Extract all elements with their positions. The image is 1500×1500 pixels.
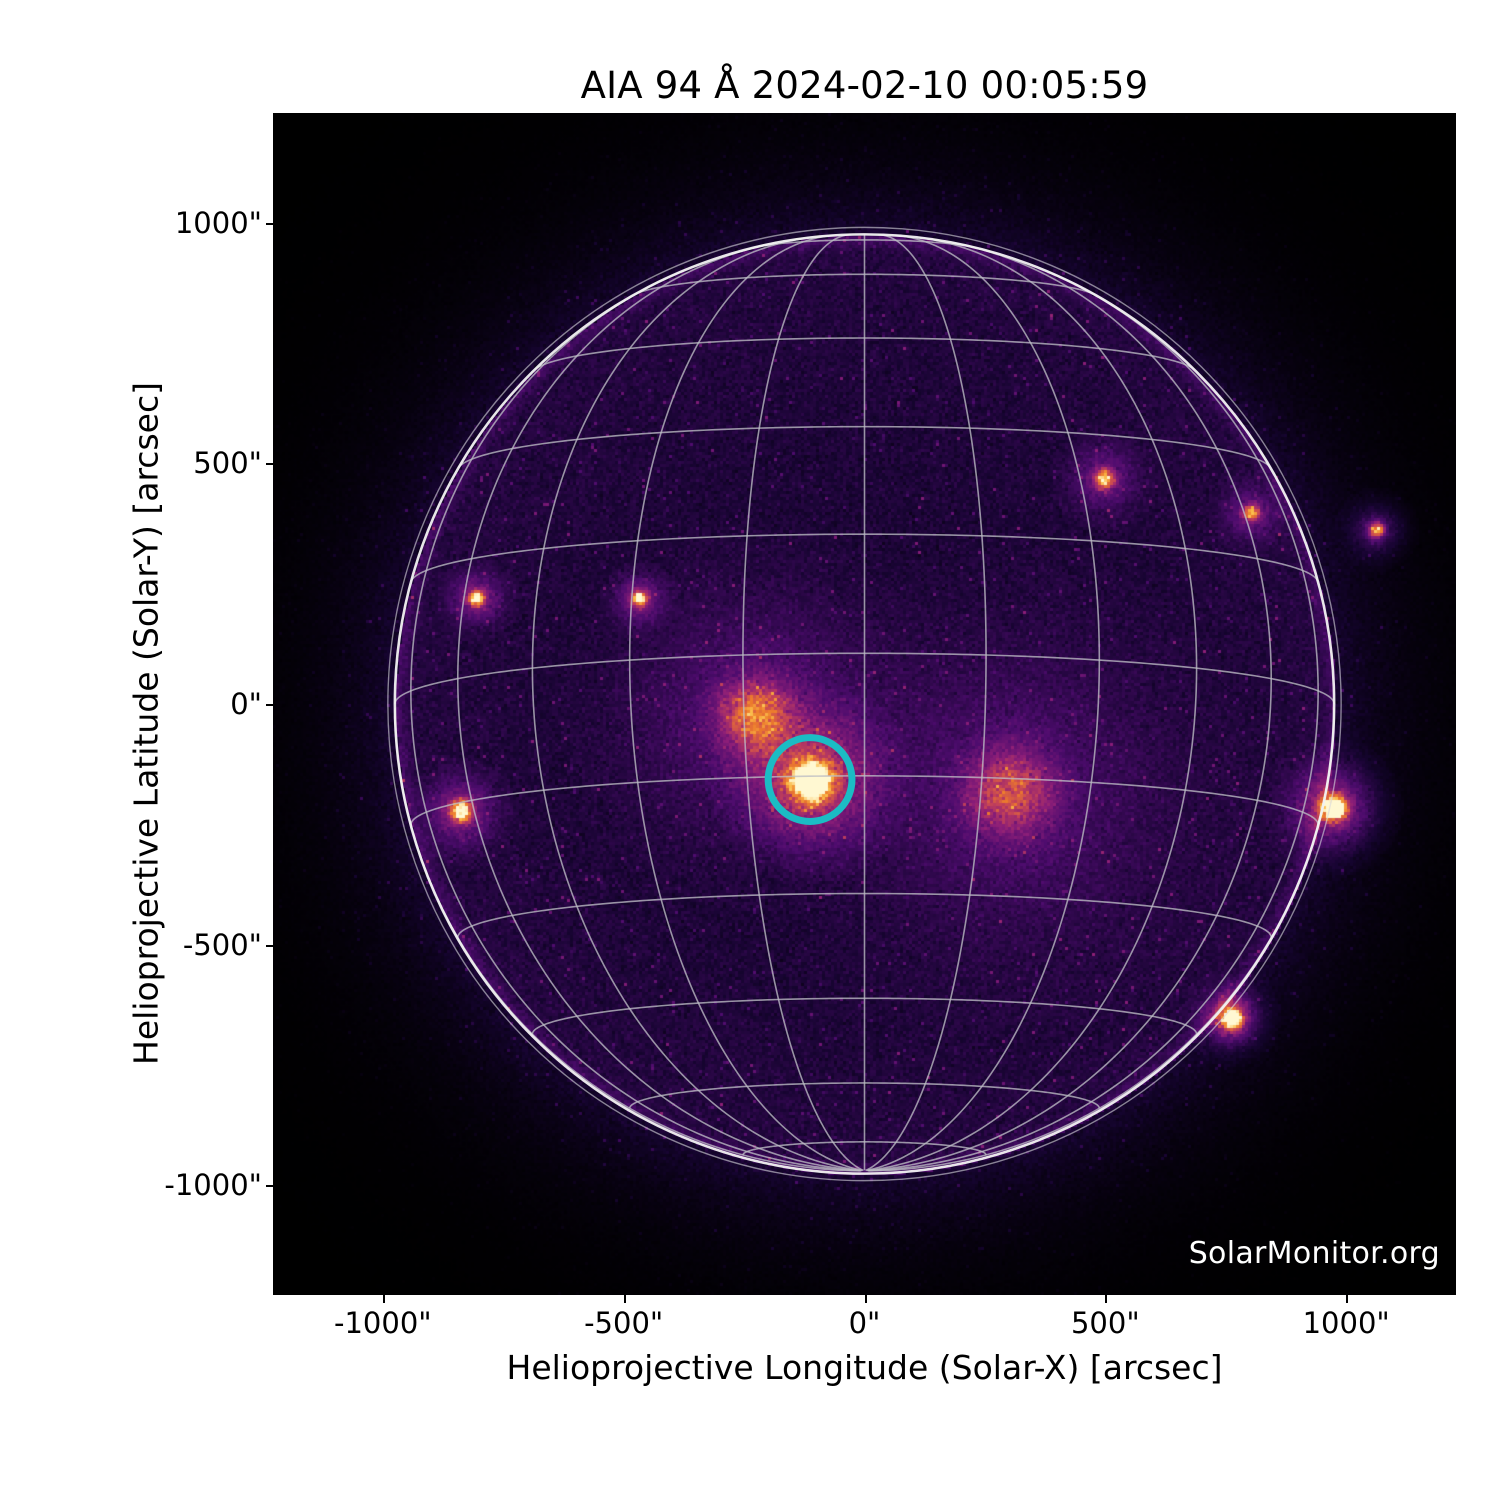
- y-axis-label: Helioprojective Latitude (Solar-Y) [arcs…: [127, 133, 166, 1315]
- y-tick-mark: [266, 463, 274, 465]
- y-tick-label: 1000": [175, 206, 262, 240]
- x-tick-mark: [383, 1295, 385, 1303]
- solar-image-plot[interactable]: SolarMonitor.org: [273, 113, 1456, 1295]
- x-tick-mark: [1346, 1295, 1348, 1303]
- solar-image-figure: AIA 94 Å 2024-02-10 00:05:59 SolarMonito…: [0, 0, 1500, 1500]
- y-tick-label: -1000": [164, 1168, 262, 1202]
- x-axis-label: Helioprojective Longitude (Solar-X) [arc…: [273, 1348, 1456, 1387]
- y-tick-mark: [266, 945, 274, 947]
- watermark-label: SolarMonitor.org: [1189, 1236, 1440, 1271]
- x-tick-mark: [1105, 1295, 1107, 1303]
- x-tick-mark: [865, 1295, 867, 1303]
- y-tick-mark: [266, 1185, 274, 1187]
- x-tick-label: 1000": [1303, 1306, 1390, 1340]
- y-tick-mark: [266, 223, 274, 225]
- page-title: AIA 94 Å 2024-02-10 00:05:59: [273, 64, 1456, 107]
- x-tick-label: -500": [584, 1306, 663, 1340]
- active-region-marker[interactable]: [768, 738, 852, 822]
- solar-overlay: [273, 113, 1456, 1295]
- y-tick-label: -500": [183, 928, 262, 962]
- x-tick-label: 0": [849, 1306, 881, 1340]
- y-tick-label: 500": [193, 446, 262, 480]
- x-tick-label: 500": [1071, 1306, 1140, 1340]
- x-tick-mark: [624, 1295, 626, 1303]
- x-tick-label: -1000": [334, 1306, 432, 1340]
- y-tick-label: 0": [230, 687, 262, 721]
- y-tick-mark: [266, 704, 274, 706]
- heliographic-grid: [395, 234, 1334, 1171]
